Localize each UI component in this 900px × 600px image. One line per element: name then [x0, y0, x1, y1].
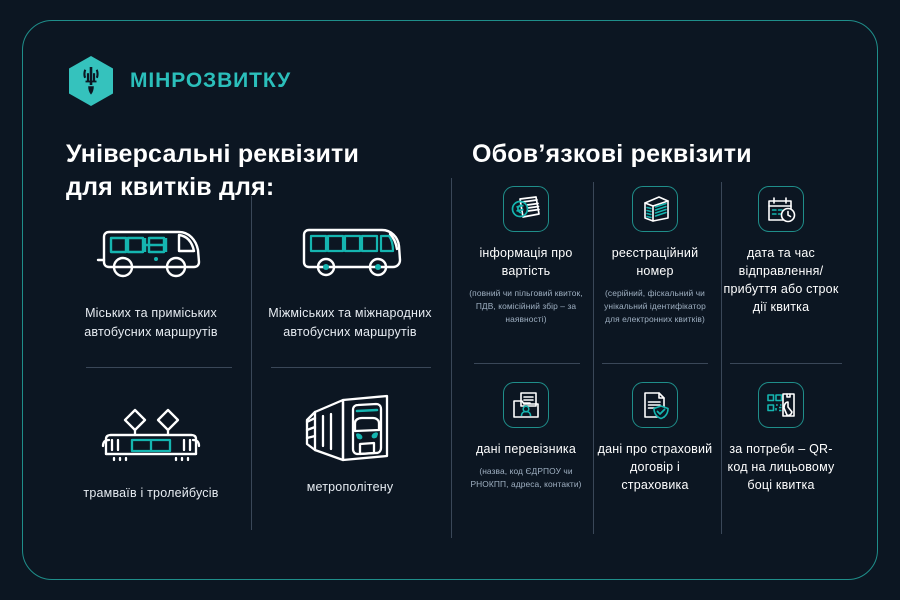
registration-documents-icon [632, 186, 678, 232]
metro-train-icon [260, 392, 440, 464]
requirement-item-registration-number: реєстраційний номер (серійний, фіскальни… [596, 186, 714, 326]
divider-vertical-center [451, 178, 452, 538]
transport-label: Міжміських та міжнародних автобусних мар… [260, 304, 440, 343]
left-section-heading: Універсальні реквізити для квитків для: [66, 138, 436, 205]
transport-item-metro: метрополітену [260, 392, 440, 497]
requirement-title: дані про страховий договір і страховика [596, 440, 714, 494]
divider-horizontal-right-2 [602, 363, 708, 364]
banknotes-hryvnia-icon [503, 186, 549, 232]
city-bus-icon [61, 218, 241, 290]
requirement-item-carrier-data: дані перевізника (назва, код ЄДРПОУ чи Р… [467, 382, 585, 491]
divider-horizontal-right-3 [730, 363, 842, 364]
left-heading-line-1: Універсальні реквізити [66, 138, 436, 171]
requirement-title: за потреби – QR-код на лицьовому боці кв… [722, 440, 840, 494]
divider-vertical-right-1 [593, 182, 594, 534]
requirement-note: (повний чи пільговий квиток, ПДВ, комісі… [467, 287, 585, 325]
infographic-poster: МІНРОЗВИТКУ Універсальні реквізити для к… [0, 0, 900, 600]
requirement-title: реєстраційний номер [596, 244, 714, 280]
calendar-clock-icon [758, 186, 804, 232]
qr-scan-phone-icon [758, 382, 804, 428]
requirement-item-price: інформація про вартість (повний чи пільг… [467, 186, 585, 326]
ukraine-trident-hexagon-icon [68, 55, 114, 107]
requirement-item-date-time: дата та час відправлення/ прибуття або с… [722, 186, 840, 324]
transport-item-city-bus: Міських та приміських автобусних маршрут… [61, 218, 241, 343]
requirement-note: (назва, код ЄДРПОУ чи РНОКПП, адреса, ко… [467, 465, 585, 491]
divider-vertical-left [251, 196, 252, 530]
requirement-note: (серійний, фіскальний чи унікальний іден… [596, 287, 714, 325]
divider-horizontal-right-1 [474, 363, 580, 364]
intercity-coach-icon [260, 218, 440, 290]
transport-item-intercity-coach: Міжміських та міжнародних автобусних мар… [260, 218, 440, 343]
requirement-item-qr-code: за потреби – QR-код на лицьовому боці кв… [722, 382, 840, 501]
divider-horizontal-left-1 [86, 367, 232, 368]
requirement-item-insurance: дані про страховий договір і страховика [596, 382, 714, 501]
brand-logo: МІНРОЗВИТКУ [68, 55, 291, 107]
divider-horizontal-left-2 [271, 367, 431, 368]
requirement-title: інформація про вартість [467, 244, 585, 280]
requirement-title: дані перевізника [467, 440, 585, 458]
brand-name: МІНРОЗВИТКУ [130, 69, 291, 93]
right-section-heading: Обов’язкові реквізити [472, 138, 862, 171]
carrier-folder-person-icon [503, 382, 549, 428]
tram-icon [61, 398, 241, 470]
transport-label: Міських та приміських автобусних маршрут… [61, 304, 241, 343]
document-shield-icon [632, 382, 678, 428]
transport-item-tram: трамваїв і тролейбусів [61, 398, 241, 503]
transport-label: метрополітену [260, 478, 440, 497]
transport-label: трамваїв і тролейбусів [61, 484, 241, 503]
requirement-title: дата та час відправлення/ прибуття або с… [722, 244, 840, 317]
